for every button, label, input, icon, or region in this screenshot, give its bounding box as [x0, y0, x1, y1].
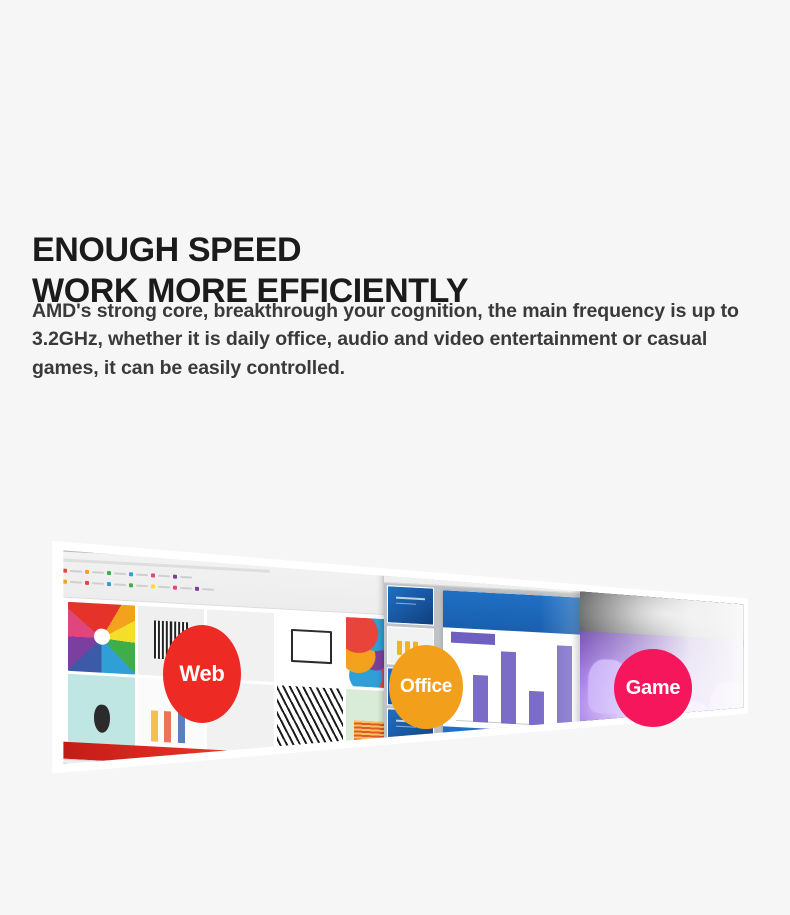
chart-bar	[529, 690, 544, 725]
chart-bar	[557, 645, 572, 726]
slide-thumbnail[interactable]	[387, 584, 435, 625]
browser-bookmarks-row-2[interactable]	[62, 579, 408, 602]
badge-game: Game	[614, 649, 692, 727]
office-taskbar[interactable]	[384, 747, 664, 776]
office-close-button[interactable]	[622, 577, 647, 585]
slide-title-block	[451, 632, 494, 645]
product-feature-page: ENOUGH SPEED WORK MORE EFFICIENTLY AMD's…	[0, 0, 790, 915]
browser-tab-strip	[62, 548, 408, 570]
thumbnail-item[interactable]	[276, 613, 342, 685]
game-status-bar	[580, 741, 748, 765]
badge-office: Office	[389, 645, 463, 729]
thumbnail-item[interactable]	[68, 602, 134, 674]
thumbnail-item[interactable]	[276, 685, 342, 757]
browser-bookmarks-row-1[interactable]	[62, 568, 408, 591]
page-body-text: AMD's strong core, breakthrough your cog…	[32, 297, 754, 383]
browser-address-bar[interactable]	[62, 558, 408, 580]
badge-web: Web	[163, 625, 241, 723]
chart-bar	[473, 675, 488, 722]
slide-footer-band	[443, 726, 659, 756]
thumbnail-item[interactable]	[68, 673, 134, 745]
windows-taskbar[interactable]	[52, 758, 416, 776]
chart-bar	[501, 651, 516, 723]
headline-line-1: ENOUGH SPEED	[32, 231, 301, 269]
